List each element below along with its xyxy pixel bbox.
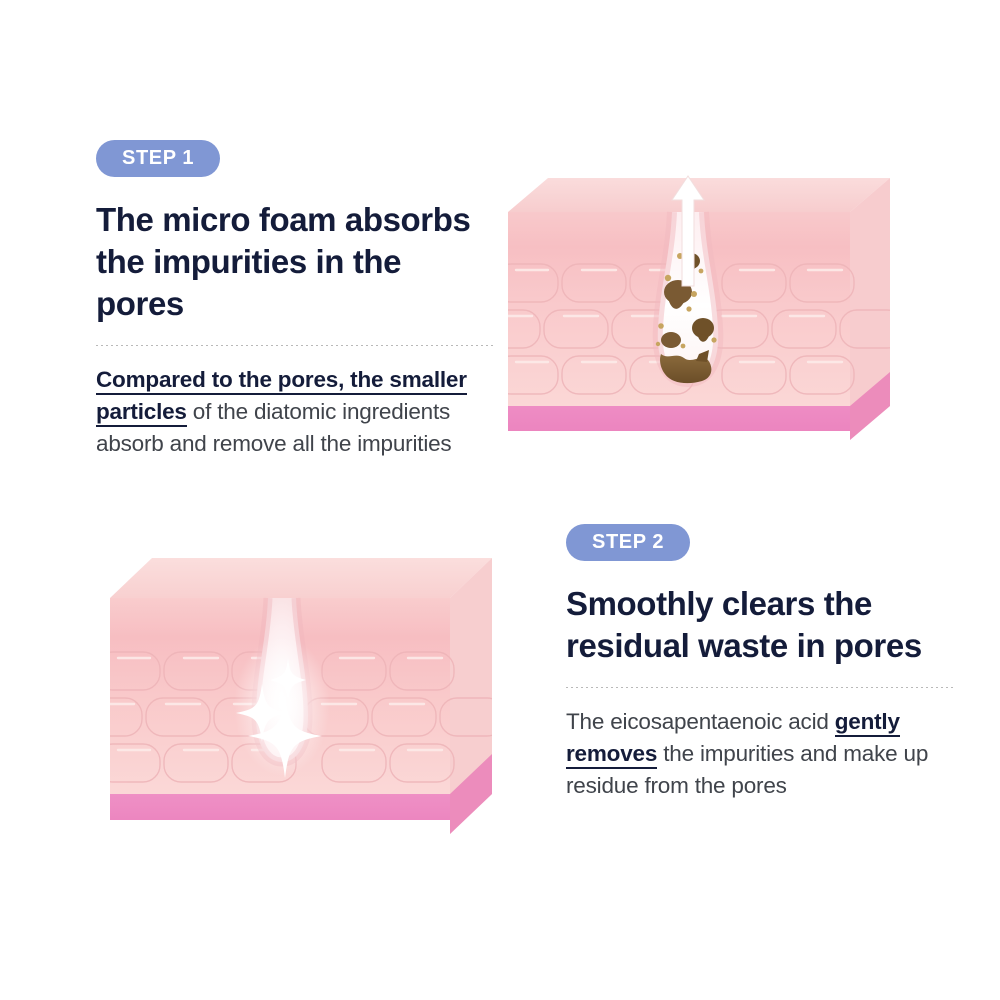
step-1-headline: The micro foam absorbs the impurities in… (96, 199, 496, 325)
skin-cross-section-clean-pore-svg (110, 546, 492, 834)
skin-top-surface (110, 558, 492, 598)
step-2-body: The eicosapentaenoic acid gently removes… (566, 706, 956, 802)
step-1-text-block: STEP 1 The micro foam absorbs the impuri… (96, 140, 496, 460)
step-1-body: Compared to the pores, the smaller parti… (96, 364, 496, 460)
skin-subcutaneous-layer (508, 406, 850, 431)
infographic-page: STEP 1 The micro foam absorbs the impuri… (0, 0, 1000, 1000)
step-2-headline-line-1: Smoothly clears the (566, 585, 872, 622)
step-2-headline: Smoothly clears the residual waste in po… (566, 583, 956, 667)
skin-subcutaneous-layer (110, 794, 450, 820)
step-1-divider (96, 345, 496, 346)
step-2-text-block: STEP 2 Smoothly clears the residual wast… (566, 524, 956, 802)
step-1-headline-line-2: the impurities in the pores (96, 243, 401, 322)
step-2-illustration (110, 546, 492, 834)
step-2-headline-line-2: residual waste in pores (566, 627, 922, 664)
step-1-badge: STEP 1 (96, 140, 220, 177)
skin-cross-section-clogged-pore-svg (508, 168, 890, 446)
step-2-divider (566, 687, 956, 688)
step-1-illustration (508, 168, 890, 446)
step-2-badge: STEP 2 (566, 524, 690, 561)
step-2-body-lead: The eicosapentaenoic acid (566, 709, 835, 734)
step-1-headline-line-1: The micro foam absorbs (96, 201, 470, 238)
